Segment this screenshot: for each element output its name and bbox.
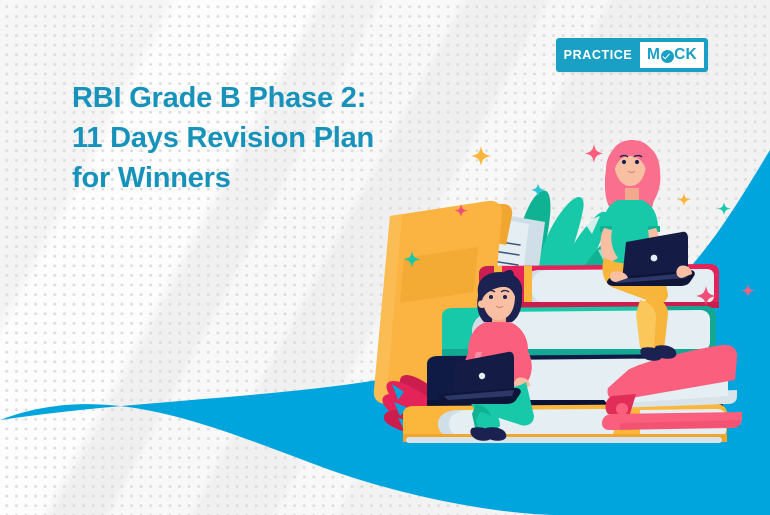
logo-practice-text: PRACTICE (556, 38, 640, 72)
sparkle-teal-2 (717, 202, 731, 215)
logo-mock-plate: M CK (640, 42, 704, 68)
banner-image: PRACTICE M CK RBI Grade B Phase 2: 11 Da… (0, 0, 770, 515)
check-inside-circle-icon (661, 50, 674, 63)
logo-mock-m: M (647, 46, 660, 64)
sparkle-yellow-1 (471, 146, 491, 166)
sparkle-yellow-2 (677, 193, 691, 206)
page-title-line-3: for Winners (72, 158, 452, 198)
logo-mock-ck: CK (674, 46, 697, 64)
page-title-line-1: RBI Grade B Phase 2: (72, 78, 452, 118)
page-title-line-2: 11 Days Revision Plan (72, 118, 452, 158)
sparkle-pink-4 (741, 284, 755, 297)
shelf-line (406, 437, 722, 443)
page-title: RBI Grade B Phase 2: 11 Days Revision Pl… (72, 78, 452, 198)
practicemock-logo[interactable]: PRACTICE M CK (556, 38, 708, 72)
sparkle-pink-1 (585, 144, 604, 163)
logo-mock-text: M CK (647, 46, 697, 64)
